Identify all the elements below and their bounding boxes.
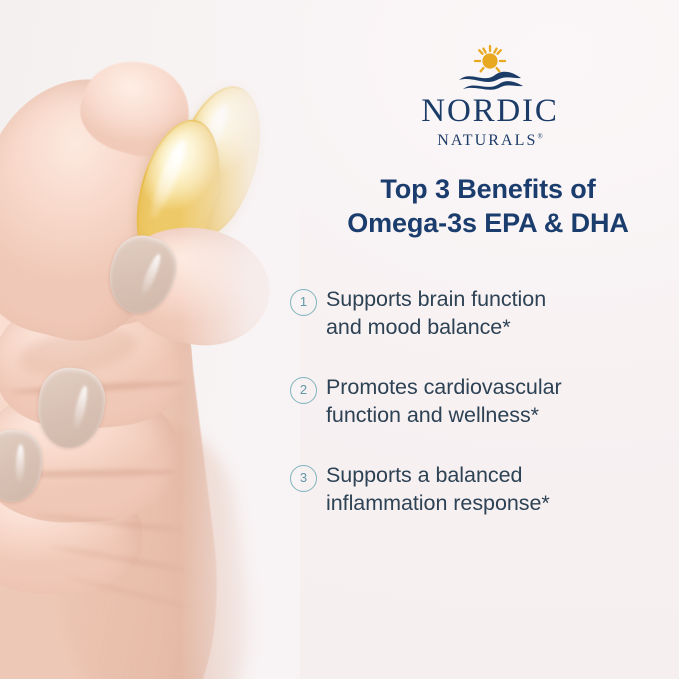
benefit-number-badge: 1	[290, 289, 317, 316]
list-item: 1 Supports brain function and mood balan…	[290, 286, 679, 342]
photo-edge-fade	[180, 0, 300, 679]
infographic-root: NORDIC NATURALS® Top 3 Benefits of Omega…	[0, 0, 679, 679]
benefits-list: 1 Supports brain function and mood balan…	[290, 286, 679, 550]
page-title: Top 3 Benefits of Omega-3s EPA & DHA	[298, 172, 678, 240]
registered-trademark: ®	[537, 133, 542, 141]
list-item: 3 Supports a balanced inflammation respo…	[290, 462, 679, 518]
benefit-text-line-2: inflammation response*	[326, 490, 550, 518]
brand-logo: NORDIC NATURALS®	[380, 44, 600, 149]
benefit-text: Supports a balanced inflammation respons…	[326, 462, 550, 518]
brand-name-secondary-text: NATURALS	[437, 132, 537, 149]
sun-over-wave-icon	[380, 44, 600, 94]
benefit-text-line-1: Promotes cardiovascular	[326, 374, 562, 402]
content-panel: NORDIC NATURALS® Top 3 Benefits of Omega…	[284, 0, 679, 679]
benefit-number-badge: 3	[290, 465, 317, 492]
benefit-text-line-1: Supports a balanced	[326, 462, 550, 490]
benefit-text: Promotes cardiovascular function and wel…	[326, 374, 562, 430]
nail-highlight	[71, 385, 89, 432]
product-photo	[0, 0, 300, 679]
benefit-text-line-2: function and wellness*	[326, 402, 562, 430]
benefit-number-badge: 2	[290, 377, 317, 404]
page-title-line-2: Omega-3s EPA & DHA	[298, 206, 678, 240]
nail-highlight	[138, 252, 164, 298]
nail-highlight	[15, 444, 24, 484]
brand-name-secondary: NATURALS®	[380, 133, 600, 149]
benefit-text: Supports brain function and mood balance…	[326, 286, 546, 342]
brand-name-primary: NORDIC	[380, 95, 600, 128]
list-item: 2 Promotes cardiovascular function and w…	[290, 374, 679, 430]
benefit-text-line-2: and mood balance*	[326, 314, 546, 342]
benefit-text-line-1: Supports brain function	[326, 286, 546, 314]
page-title-line-1: Top 3 Benefits of	[298, 172, 678, 206]
